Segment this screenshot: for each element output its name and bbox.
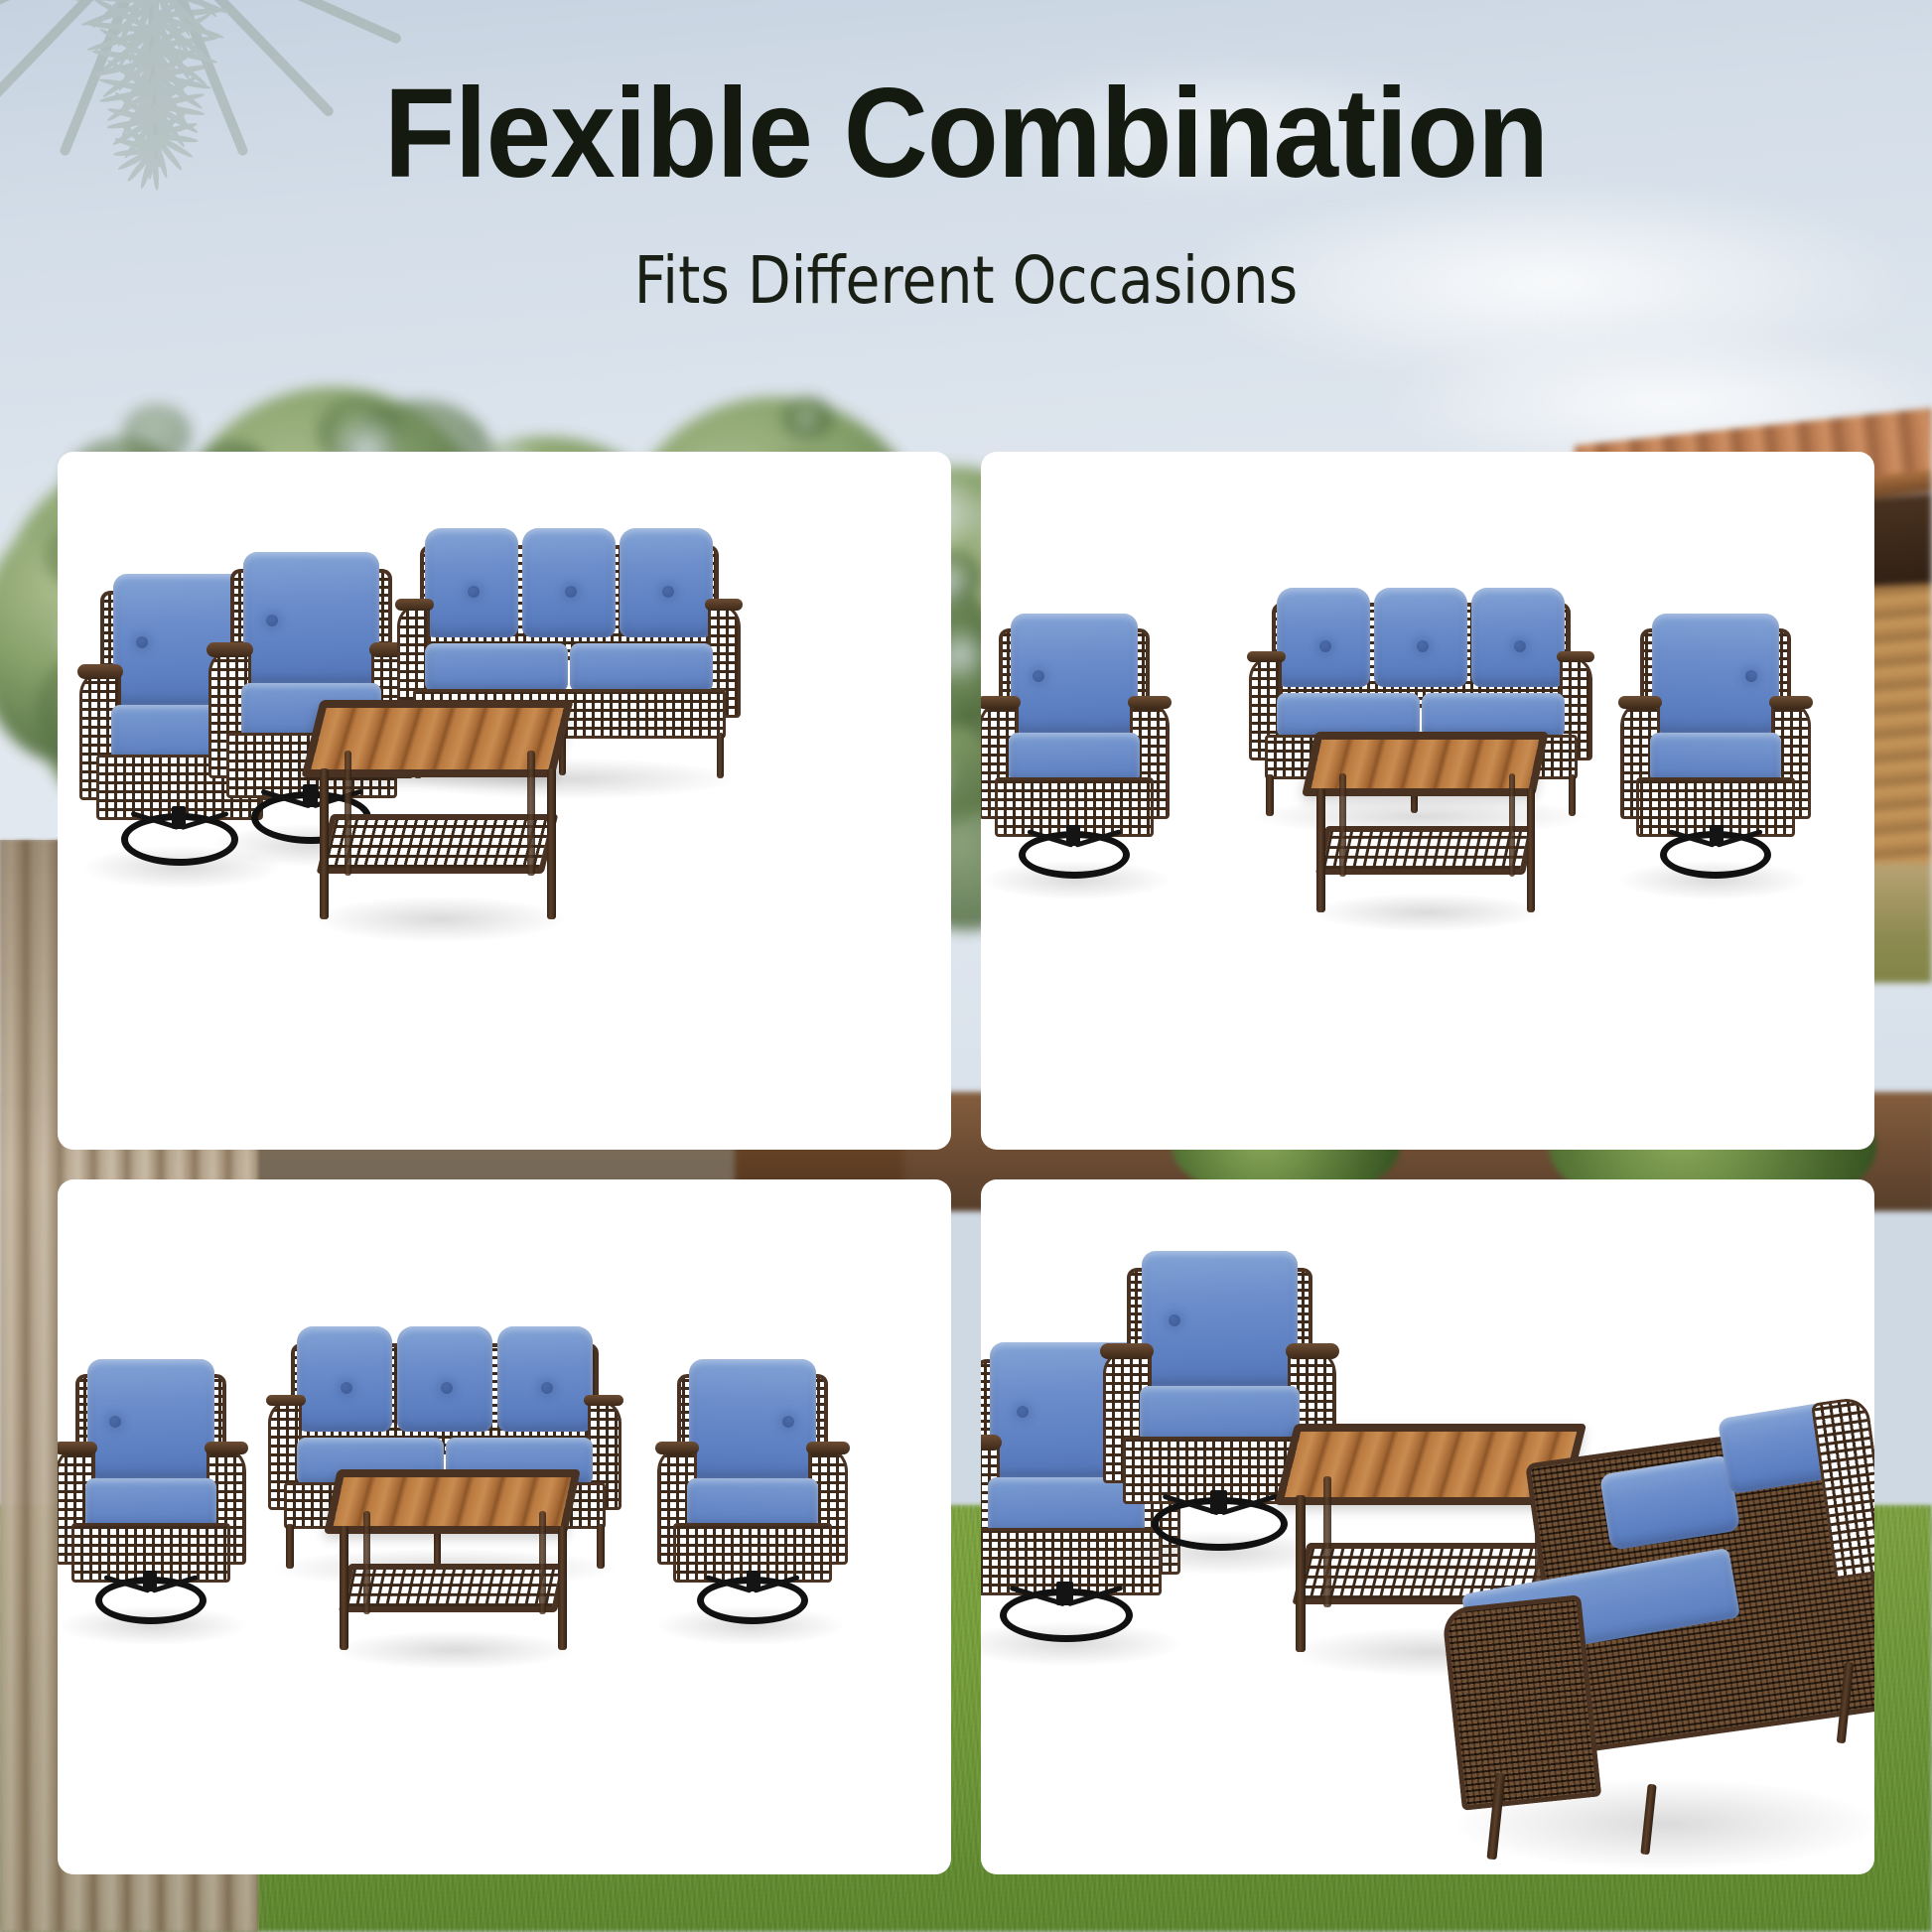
floor-shadow xyxy=(316,897,564,942)
arm-cap-left xyxy=(1247,651,1286,662)
arm-cap-left xyxy=(266,1395,306,1406)
table-lower-shelf xyxy=(317,814,559,874)
table-leg xyxy=(340,1526,348,1650)
swivel-chair xyxy=(58,1338,250,1636)
table-leg xyxy=(1527,788,1535,912)
arm-cap-left xyxy=(395,599,434,611)
back-cushion xyxy=(397,1326,493,1432)
cushion-tuft xyxy=(1017,1406,1029,1418)
arm-cap-right xyxy=(584,1395,623,1406)
arm-cap-right xyxy=(1618,696,1662,710)
arm-cap-right xyxy=(705,599,744,611)
sofa-leg xyxy=(717,733,725,778)
combination-panel-bottom-left[interactable] xyxy=(58,1179,951,1874)
arm-cap-left xyxy=(58,1442,97,1455)
cushion-tuft xyxy=(1033,670,1044,682)
back-cushion xyxy=(243,552,380,683)
page-title: Flexible Combination xyxy=(77,68,1855,201)
page-subtitle: Fits Different Occasions xyxy=(135,242,1797,319)
arm-cap-left xyxy=(806,1442,850,1455)
table-leg xyxy=(558,1526,567,1650)
seat-cushion xyxy=(85,1478,216,1529)
table-lower-shelf xyxy=(1315,826,1536,875)
coffee-table xyxy=(331,1469,579,1658)
floor-shadow xyxy=(1313,894,1542,931)
floor-shadow xyxy=(336,1631,574,1669)
back-cushion xyxy=(620,528,713,637)
back-cushion xyxy=(1142,1251,1298,1386)
table-leg xyxy=(527,751,534,877)
table-leg xyxy=(363,1511,370,1615)
back-cushion xyxy=(1374,588,1467,688)
sofa-arm-near xyxy=(1442,1594,1601,1811)
header: Flexible Combination Fits Different Occa… xyxy=(0,0,1932,437)
seat-cushion xyxy=(1009,733,1140,783)
sofa-angled xyxy=(1448,1348,1874,1855)
back-cushion xyxy=(87,1359,214,1478)
table-leg xyxy=(1296,1495,1307,1652)
sofa-leg xyxy=(1266,774,1274,816)
table-leg xyxy=(345,751,351,877)
seat-cushion xyxy=(570,643,713,692)
combination-panel-bottom-right[interactable] xyxy=(981,1179,1874,1874)
seat-cushion xyxy=(687,1478,818,1529)
table-leg xyxy=(1509,773,1516,878)
cushion-tuft xyxy=(782,1416,794,1428)
arm-cap-left xyxy=(77,664,123,679)
arm-cap-right xyxy=(1557,651,1595,662)
table-leg xyxy=(1339,773,1346,878)
combination-panel-top-left[interactable] xyxy=(58,452,951,1150)
sofa-leg xyxy=(1569,774,1577,816)
arm-cap-left xyxy=(1100,1343,1154,1358)
arm-cap-left xyxy=(981,696,1021,710)
sofa-leg xyxy=(597,1524,605,1569)
swivel-chair xyxy=(653,1338,852,1636)
coffee-table xyxy=(1309,732,1547,920)
cushion-tuft xyxy=(1417,640,1429,652)
seat-cushion xyxy=(1650,733,1781,783)
back-cushion xyxy=(1277,588,1370,688)
table-leg xyxy=(1316,788,1324,912)
arm-cap-right xyxy=(655,1442,699,1455)
cushion-tuft xyxy=(1514,640,1526,652)
swivel-chair xyxy=(1616,593,1815,891)
back-cushion xyxy=(1471,588,1565,688)
arm-cap-left xyxy=(981,1435,1002,1449)
combination-panel-top-right[interactable] xyxy=(981,452,1874,1150)
swivel-chair xyxy=(981,593,1173,891)
cushion-tuft xyxy=(1319,640,1331,652)
table-leg xyxy=(320,768,329,919)
cushion-tuft xyxy=(109,1416,121,1428)
cushion-tuft xyxy=(136,636,148,648)
back-cushion xyxy=(425,528,518,637)
sofa-leg xyxy=(286,1524,294,1569)
back-cushion xyxy=(297,1326,393,1432)
cushion-tuft xyxy=(1745,670,1757,682)
back-cushion xyxy=(522,528,616,637)
cushion-tuft xyxy=(341,1382,352,1394)
table-leg xyxy=(547,768,556,919)
back-cushion xyxy=(689,1359,816,1478)
arm-cap-right xyxy=(1128,696,1172,710)
cushion-tuft xyxy=(468,586,480,598)
coffee-table xyxy=(311,700,569,928)
back-cushion xyxy=(1011,614,1138,733)
table-lower-shelf xyxy=(338,1564,566,1612)
seat-cushion xyxy=(1277,693,1420,738)
arm-cap-right xyxy=(1286,1343,1339,1358)
back-cushion xyxy=(497,1326,594,1432)
arm-cap-left xyxy=(1769,696,1813,710)
seat-cushion xyxy=(425,643,568,692)
table-leg xyxy=(539,1511,546,1615)
back-cushion xyxy=(1652,614,1779,733)
arm-cap-left xyxy=(207,642,253,657)
seat-cushion xyxy=(1422,693,1565,738)
seat-cushion xyxy=(1140,1386,1301,1444)
table-leg xyxy=(1323,1476,1331,1607)
arm-cap-right xyxy=(205,1442,248,1455)
